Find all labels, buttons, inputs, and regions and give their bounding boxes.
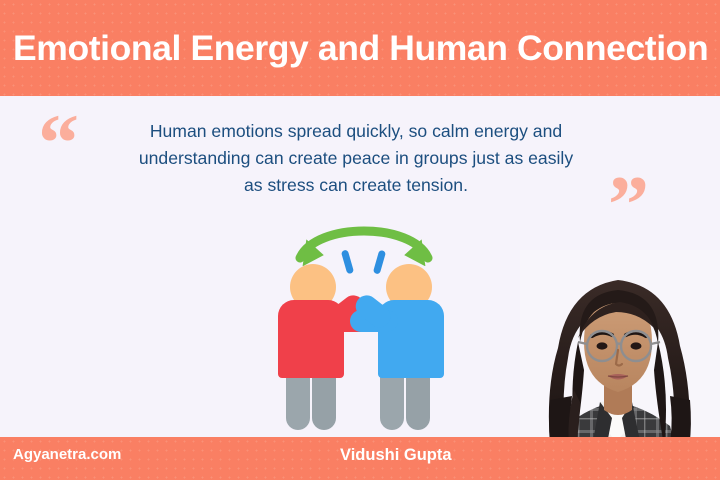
poster-canvas: Emotional Energy and Human Connection “ … <box>0 0 720 480</box>
quote-line-3: as stress can create tension. <box>96 172 616 199</box>
quote-text: Human emotions spread quickly, so calm e… <box>96 118 616 199</box>
quote-line-1: Human emotions spread quickly, so calm e… <box>96 118 616 145</box>
footer-author-label: Vidushi Gupta <box>340 446 452 465</box>
header-band: Emotional Energy and Human Connection <box>0 0 720 96</box>
impact-spark-icon <box>334 248 394 282</box>
quote-line-2: understanding can create peace in groups… <box>96 145 616 172</box>
page-title: Emotional Energy and Human Connection <box>0 28 708 69</box>
high-five-illustration <box>268 218 460 432</box>
footer-site-label[interactable]: Agyanetra.com <box>13 446 121 463</box>
quote-open-icon: “ <box>38 102 79 184</box>
